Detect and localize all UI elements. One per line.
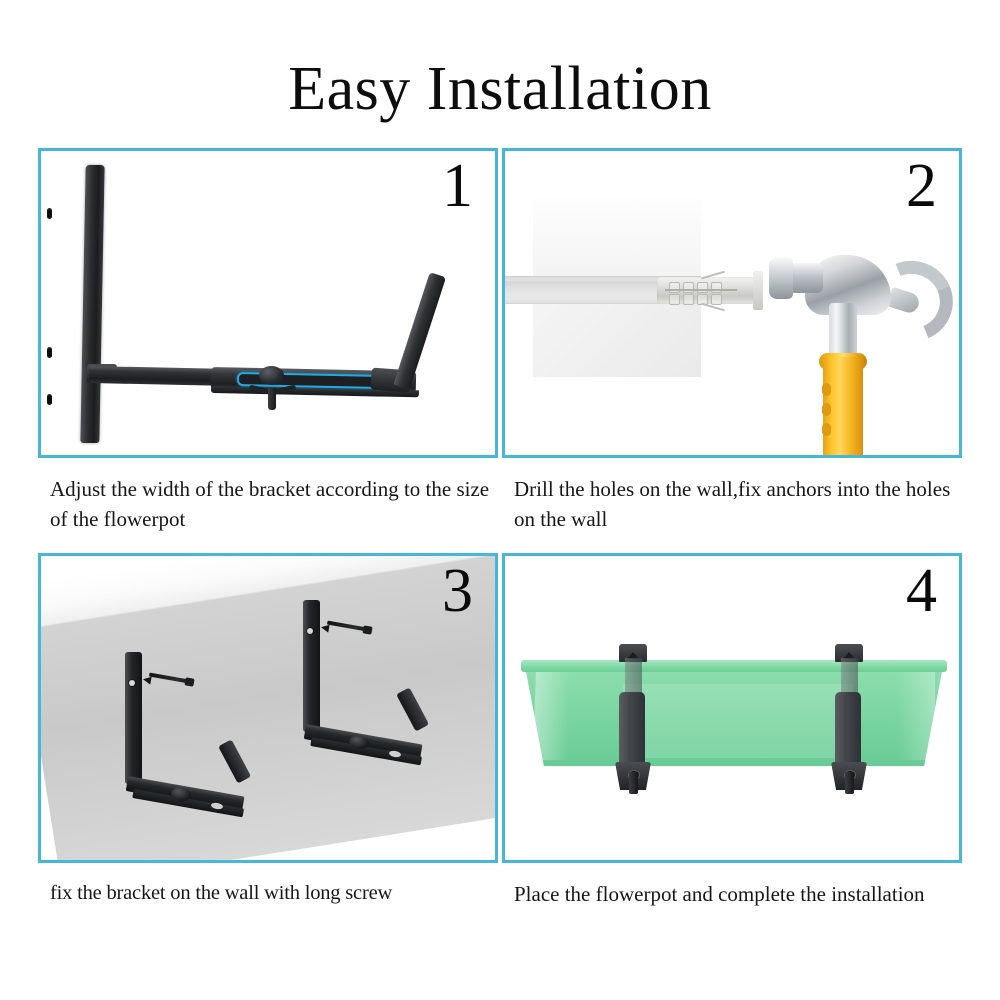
grip-finger-notch-2 (822, 403, 831, 416)
bracket-screw-hole (129, 680, 135, 686)
screw-head (184, 677, 194, 686)
step-number-4: 4 (906, 560, 937, 622)
screw-head (362, 625, 372, 634)
bracket-wall-plate (80, 165, 104, 443)
bracket-vertical-plate (125, 652, 142, 784)
drilled-hole-depth (505, 281, 675, 296)
flowerpot-right-highlight (897, 672, 935, 760)
page-title: Easy Installation (0, 58, 1000, 120)
bracket-screw-hole (307, 628, 313, 634)
bracket-end-hook (396, 687, 429, 731)
step-2: 2 Drill the holes on the wall,fix anchor… (502, 148, 962, 535)
brackets-on-wall-illustration (41, 556, 495, 860)
anchor-rib-4 (711, 282, 722, 293)
step-2-illustration-panel: 2 (502, 148, 962, 458)
step-4-caption: Place the flowerpot and complete the ins… (502, 879, 960, 909)
anchor-rib-5 (669, 294, 680, 305)
hammer-neck (789, 263, 823, 293)
step-number-1: 1 (442, 155, 473, 217)
wall-plate-hole-middle (47, 347, 52, 358)
flowerpot-installed-illustration (505, 556, 959, 860)
bracket-vertical-plate (303, 600, 320, 732)
grip-finger-notch-1 (822, 383, 831, 396)
bracket-front-pad (835, 692, 861, 768)
steps-grid: 1 Adjust the width of the bracket accord… (38, 148, 962, 938)
hammer-striking-face (769, 257, 793, 299)
wall-bracket-left (119, 652, 269, 842)
long-screw (327, 621, 367, 632)
long-screw (149, 673, 189, 684)
holder-bracket-right (831, 644, 867, 794)
anchor-rib-1 (669, 282, 680, 293)
step-2-caption: Drill the holes on the wall,fix anchors … (502, 474, 960, 535)
anchor-rib-3 (697, 282, 708, 293)
claw-hammer (767, 243, 927, 458)
anchor-expansion-split (665, 289, 737, 291)
anchor-collar-flange (753, 271, 763, 310)
step-3-illustration-panel: 3 (38, 553, 498, 863)
bracket-front-pad (619, 692, 645, 768)
step-4: 4 Place the flowerpot and complete the i… (502, 553, 962, 909)
flowerpot-left-highlight (533, 672, 569, 760)
bracket-base-bolt (845, 772, 854, 794)
flowerpot-center-band (623, 684, 853, 758)
drill-and-anchor-illustration (505, 151, 959, 455)
adjustable-bracket-illustration (41, 151, 495, 455)
step-4-illustration-panel: 4 (502, 553, 962, 863)
grip-finger-notch-3 (822, 423, 831, 436)
step-1-illustration-panel: 1 (38, 148, 498, 458)
anchor-rib-2 (683, 282, 694, 293)
wall-plate-hole-bottom (47, 394, 52, 405)
anchor-rib-6 (683, 294, 694, 305)
step-number-3: 3 (442, 560, 473, 622)
wall-bracket-right (297, 600, 447, 790)
bracket-end-hook (218, 739, 251, 783)
holder-bracket-left (615, 644, 651, 794)
wall-plate-hole-top (47, 208, 52, 219)
bolt-shaft (268, 388, 276, 410)
step-1-caption: Adjust the width of the bracket accordin… (38, 474, 496, 535)
step-1: 1 Adjust the width of the bracket accord… (38, 148, 498, 535)
bracket-angled-side-arm (393, 272, 446, 389)
anchor-rib-8 (711, 294, 722, 305)
step-3: 3 fix the bracket on the wall with long … (38, 553, 498, 909)
flowerpot-rim (521, 660, 947, 672)
step-number-2: 2 (906, 155, 937, 217)
step-3-caption: fix the bracket on the wall with long sc… (38, 879, 496, 909)
wall-block-upper-shade (533, 199, 701, 278)
bracket-base-bolt (629, 772, 638, 794)
